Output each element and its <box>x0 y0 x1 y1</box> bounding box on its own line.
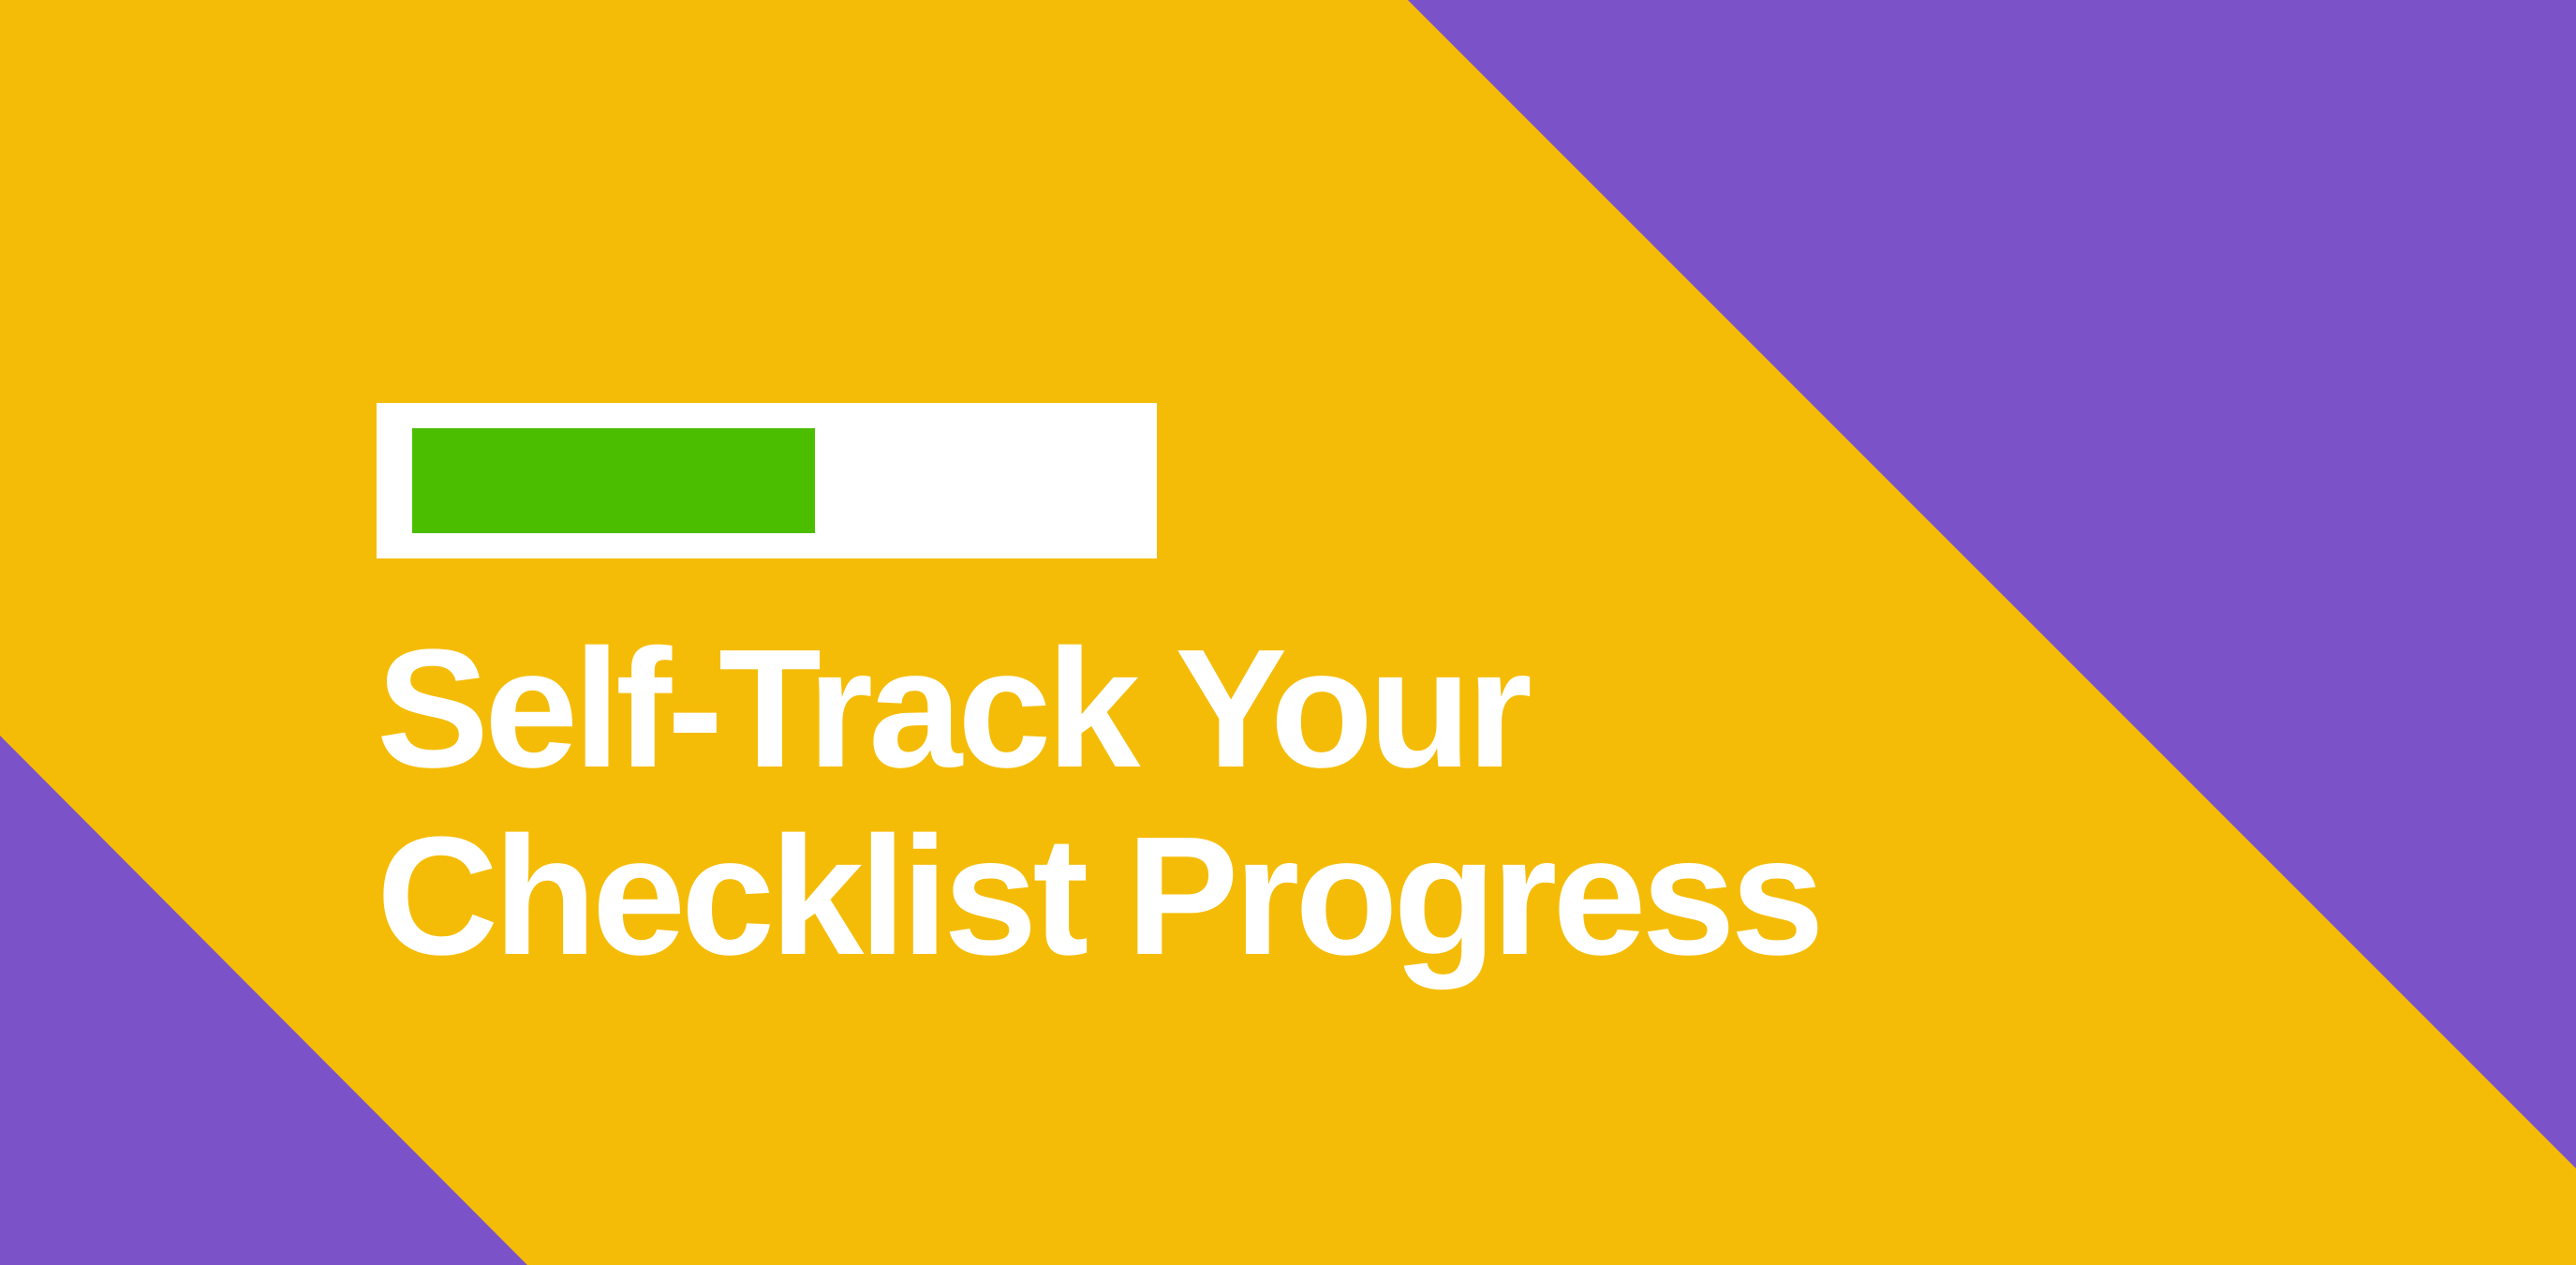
banner-canvas: Self-Track Your Checklist Progress <box>0 0 2576 1265</box>
progress-bar-fill <box>412 428 815 533</box>
page-title: Self-Track Your Checklist Progress <box>377 558 2250 990</box>
banner-content: Self-Track Your Checklist Progress <box>377 403 2250 990</box>
progress-bar-track <box>377 403 1157 558</box>
